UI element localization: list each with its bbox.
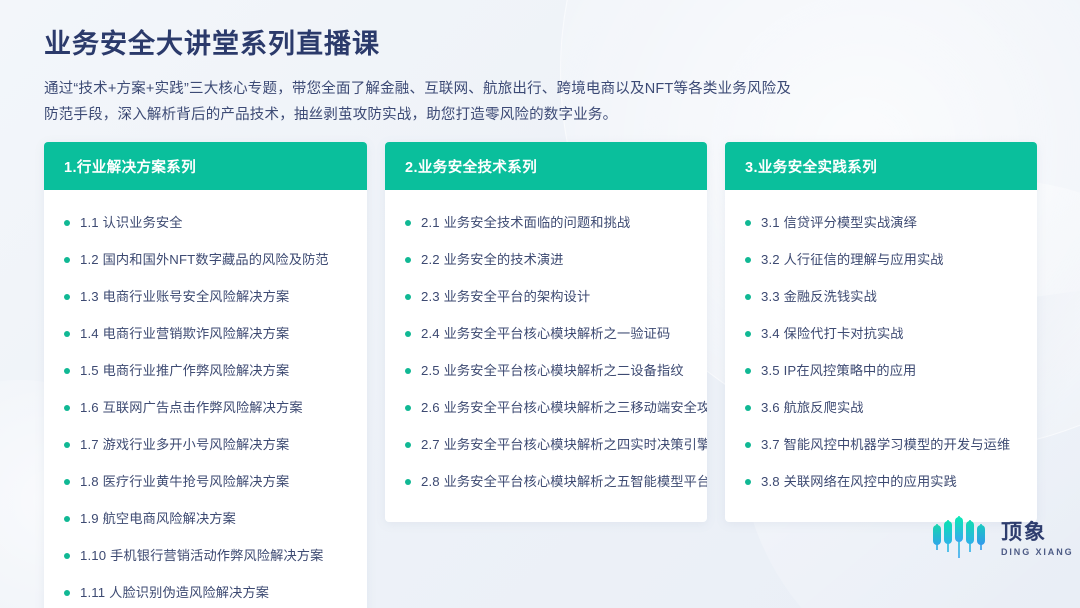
bullet-icon — [745, 405, 751, 411]
bullet-icon — [745, 294, 751, 300]
page-subtitle-line-2: 防范手段，深入解析背后的产品技术，抽丝剥茧攻防实战，助您打造零风险的数字业务。 — [44, 107, 617, 123]
bullet-icon — [745, 442, 751, 448]
list-item-label: 1.2 国内和国外NFT数字藏品的风险及防范 — [80, 251, 329, 269]
list-item[interactable]: 1.6 互联网广告点击作弊风险解决方案 — [64, 389, 351, 426]
course-card-3-list: 3.1 信贷评分模型实战演绎 3.2 人行征信的理解与应用实战 3.3 金融反洗… — [725, 190, 1037, 522]
course-card-3-header: 3.业务安全实践系列 — [725, 142, 1037, 190]
list-item-label: 3.8 关联网络在风控中的应用实践 — [761, 473, 957, 491]
list-item-label: 1.1 认识业务安全 — [80, 214, 183, 232]
page-subtitle: 通过“技术+方案+实践”三大核心专题，带您全面了解金融、互联网、航旅出行、跨境电… — [44, 76, 1044, 128]
list-item[interactable]: 3.7 智能风控中机器学习模型的开发与运维 — [745, 426, 1021, 463]
list-item-label: 2.8 业务安全平台核心模块解析之五智能模型平台 — [421, 473, 707, 491]
bullet-icon — [64, 220, 70, 226]
bullet-icon — [64, 590, 70, 596]
list-item-label: 2.4 业务安全平台核心模块解析之一验证码 — [421, 325, 670, 343]
list-item[interactable]: 3.6 航旅反爬实战 — [745, 389, 1021, 426]
list-item-label: 1.8 医疗行业黄牛抢号风险解决方案 — [80, 473, 289, 491]
list-item-label: 1.11 人脸识别伪造风险解决方案 — [80, 584, 269, 602]
list-item-label: 2.6 业务安全平台核心模块解析之三移动端安全攻防 — [421, 399, 707, 417]
bullet-icon — [64, 368, 70, 374]
bullet-icon — [64, 294, 70, 300]
list-item[interactable]: 2.3 业务安全平台的架构设计 — [405, 278, 691, 315]
page-subtitle-line-1: 通过“技术+方案+实践”三大核心专题，带您全面了解金融、互联网、航旅出行、跨境电… — [44, 81, 791, 97]
list-item-label: 1.10 手机银行营销活动作弊风险解决方案 — [80, 547, 323, 565]
list-item-label: 2.7 业务安全平台核心模块解析之四实时决策引擎 — [421, 436, 707, 454]
list-item-label: 3.5 IP在风控策略中的应用 — [761, 362, 916, 380]
bullet-icon — [64, 516, 70, 522]
list-item-label: 1.5 电商行业推广作弊风险解决方案 — [80, 362, 289, 380]
list-item[interactable]: 2.1 业务安全技术面临的问题和挑战 — [405, 204, 691, 241]
bullet-icon — [64, 331, 70, 337]
list-item[interactable]: 1.4 电商行业营销欺诈风险解决方案 — [64, 315, 351, 352]
list-item-label: 3.3 金融反洗钱实战 — [761, 288, 877, 306]
list-item[interactable]: 3.3 金融反洗钱实战 — [745, 278, 1021, 315]
list-item[interactable]: 1.9 航空电商风险解决方案 — [64, 500, 351, 537]
brand-logo: 顶象 DING XIANG — [931, 514, 1074, 562]
page-title: 业务安全大讲堂系列直播课 — [44, 28, 1044, 62]
bullet-icon — [64, 442, 70, 448]
list-item-label: 2.1 业务安全技术面临的问题和挑战 — [421, 214, 630, 232]
candlestick-logo-icon — [931, 514, 989, 562]
list-item[interactable]: 1.10 手机银行营销活动作弊风险解决方案 — [64, 537, 351, 574]
course-card-3: 3.业务安全实践系列 3.1 信贷评分模型实战演绎 3.2 人行征信的理解与应用… — [725, 142, 1037, 522]
list-item-label: 3.4 保险代打卡对抗实战 — [761, 325, 904, 343]
course-card-2: 2.业务安全技术系列 2.1 业务安全技术面临的问题和挑战 2.2 业务安全的技… — [385, 142, 707, 522]
list-item[interactable]: 1.11 人脸识别伪造风险解决方案 — [64, 574, 351, 608]
list-item[interactable]: 3.1 信贷评分模型实战演绎 — [745, 204, 1021, 241]
bullet-icon — [745, 479, 751, 485]
bullet-icon — [405, 294, 411, 300]
list-item-label: 1.4 电商行业营销欺诈风险解决方案 — [80, 325, 289, 343]
slide-header: 业务安全大讲堂系列直播课 通过“技术+方案+实践”三大核心专题，带您全面了解金融… — [44, 28, 1044, 128]
list-item[interactable]: 3.2 人行征信的理解与应用实战 — [745, 241, 1021, 278]
course-card-1-header: 1.行业解决方案系列 — [44, 142, 367, 190]
list-item-label: 2.2 业务安全的技术演进 — [421, 251, 564, 269]
list-item-label: 1.7 游戏行业多开小号风险解决方案 — [80, 436, 289, 454]
bullet-icon — [405, 368, 411, 374]
bullet-icon — [64, 405, 70, 411]
list-item[interactable]: 2.2 业务安全的技术演进 — [405, 241, 691, 278]
bullet-icon — [405, 331, 411, 337]
list-item[interactable]: 3.4 保险代打卡对抗实战 — [745, 315, 1021, 352]
bullet-icon — [405, 405, 411, 411]
course-card-2-header: 2.业务安全技术系列 — [385, 142, 707, 190]
list-item-label: 3.7 智能风控中机器学习模型的开发与运维 — [761, 436, 1010, 454]
course-columns: 1.行业解决方案系列 1.1 认识业务安全 1.2 国内和国外NFT数字藏品的风… — [44, 142, 1037, 608]
bullet-icon — [745, 220, 751, 226]
list-item-label: 3.1 信贷评分模型实战演绎 — [761, 214, 917, 232]
list-item-label: 1.6 互联网广告点击作弊风险解决方案 — [80, 399, 303, 417]
list-item[interactable]: 2.4 业务安全平台核心模块解析之一验证码 — [405, 315, 691, 352]
list-item-label: 2.3 业务安全平台的架构设计 — [421, 288, 590, 306]
list-item-label: 3.2 人行征信的理解与应用实战 — [761, 251, 944, 269]
slide-root: 业务安全大讲堂系列直播课 通过“技术+方案+实践”三大核心专题，带您全面了解金融… — [0, 0, 1080, 608]
course-card-1: 1.行业解决方案系列 1.1 认识业务安全 1.2 国内和国外NFT数字藏品的风… — [44, 142, 367, 608]
list-item[interactable]: 2.7 业务安全平台核心模块解析之四实时决策引擎 — [405, 426, 691, 463]
bullet-icon — [64, 553, 70, 559]
list-item[interactable]: 1.3 电商行业账号安全风险解决方案 — [64, 278, 351, 315]
bullet-icon — [745, 368, 751, 374]
course-card-2-list: 2.1 业务安全技术面临的问题和挑战 2.2 业务安全的技术演进 2.3 业务安… — [385, 190, 707, 522]
brand-name-cn: 顶象 — [1001, 522, 1074, 543]
bullet-icon — [64, 257, 70, 263]
list-item[interactable]: 1.7 游戏行业多开小号风险解决方案 — [64, 426, 351, 463]
list-item[interactable]: 2.5 业务安全平台核心模块解析之二设备指纹 — [405, 352, 691, 389]
list-item-label: 3.6 航旅反爬实战 — [761, 399, 864, 417]
bullet-icon — [405, 220, 411, 226]
list-item[interactable]: 1.5 电商行业推广作弊风险解决方案 — [64, 352, 351, 389]
bullet-icon — [745, 331, 751, 337]
bullet-icon — [405, 442, 411, 448]
list-item-label: 2.5 业务安全平台核心模块解析之二设备指纹 — [421, 362, 684, 380]
bullet-icon — [405, 257, 411, 263]
list-item[interactable]: 3.5 IP在风控策略中的应用 — [745, 352, 1021, 389]
list-item[interactable]: 3.8 关联网络在风控中的应用实践 — [745, 463, 1021, 500]
list-item-label: 1.3 电商行业账号安全风险解决方案 — [80, 288, 289, 306]
list-item[interactable]: 1.8 医疗行业黄牛抢号风险解决方案 — [64, 463, 351, 500]
brand-logo-text: 顶象 DING XIANG — [1001, 520, 1074, 557]
bullet-icon — [405, 479, 411, 485]
course-card-1-list: 1.1 认识业务安全 1.2 国内和国外NFT数字藏品的风险及防范 1.3 电商… — [44, 190, 367, 608]
list-item[interactable]: 2.6 业务安全平台核心模块解析之三移动端安全攻防 — [405, 389, 691, 426]
list-item-label: 1.9 航空电商风险解决方案 — [80, 510, 236, 528]
list-item[interactable]: 2.8 业务安全平台核心模块解析之五智能模型平台 — [405, 463, 691, 500]
list-item[interactable]: 1.2 国内和国外NFT数字藏品的风险及防范 — [64, 241, 351, 278]
brand-name-en: DING XIANG — [1001, 548, 1074, 557]
bullet-icon — [745, 257, 751, 263]
list-item[interactable]: 1.1 认识业务安全 — [64, 204, 351, 241]
bullet-icon — [64, 479, 70, 485]
